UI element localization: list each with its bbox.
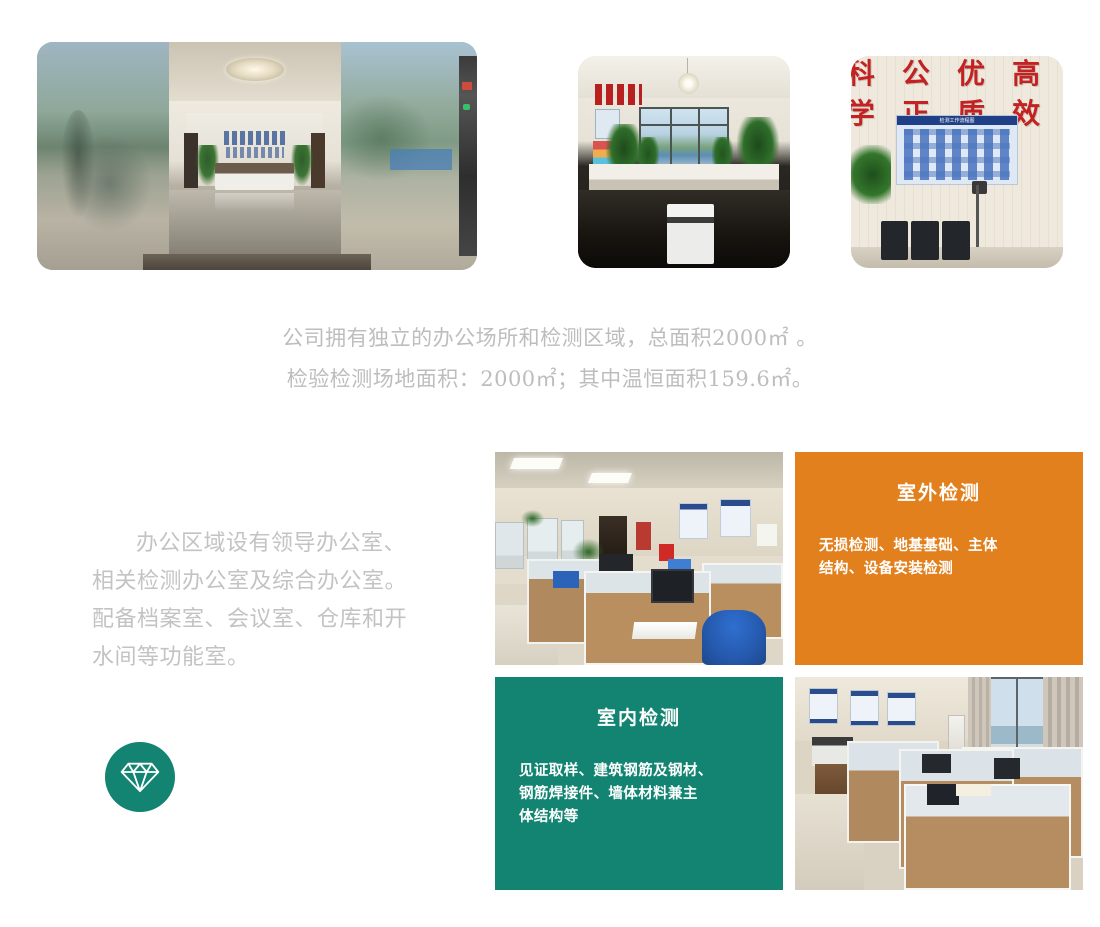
plant-icon xyxy=(851,145,891,204)
office-chair xyxy=(702,610,765,665)
motto-word-1: 科学 xyxy=(851,56,902,132)
outdoor-testing-body: 无损检测、地基基础、主体 结构、设备安装检测 xyxy=(819,535,1059,581)
indoor-testing-body-line-3: 体结构等 xyxy=(519,806,759,829)
door-frame-panel xyxy=(459,56,477,257)
waiting-chairs xyxy=(881,221,970,259)
printer-icon xyxy=(667,204,714,263)
wall-poster xyxy=(720,499,752,537)
wall-motto-text: 科学 公正 优质 高效 xyxy=(851,77,1063,107)
office-desc-line-3: 配备档案室、会议室、仓库和开 xyxy=(92,601,467,639)
plant-icon xyxy=(521,510,544,527)
lobby-entrance-photo xyxy=(37,42,477,270)
indoor-testing-body-line-2: 钢筋焊接件、墙体材料兼主 xyxy=(519,783,759,806)
diamond-badge xyxy=(105,742,175,812)
monitor-icon xyxy=(927,784,959,805)
testing-card-grid: 室外检测 无损检测、地基基础、主体 结构、设备安装检测 室内检测 见证取样、建筑… xyxy=(495,452,1083,892)
wall-slogan xyxy=(595,84,642,105)
meeting-room-photo xyxy=(578,56,790,268)
office-photo-b xyxy=(795,677,1083,890)
wall-poster xyxy=(679,503,708,539)
ceiling-light-icon xyxy=(510,458,563,469)
page-root: 科学 公正 优质 高效 检测工作流程图 公司拥有独立的办公场所和检测区域，总面积… xyxy=(0,0,1100,927)
glass-pane-right xyxy=(341,42,477,270)
caption-line-1: 公司拥有独立的办公场所和检测区域，总面积2000㎡ 。 xyxy=(0,318,1100,359)
ceiling-lamp-icon xyxy=(678,73,699,94)
area-caption: 公司拥有独立的办公场所和检测区域，总面积2000㎡ 。 检验检测场地面积：200… xyxy=(0,318,1100,400)
conference-table xyxy=(589,164,780,192)
office-photo-a xyxy=(495,452,783,665)
chandelier-light xyxy=(226,58,284,81)
motto-word-4: 高效 xyxy=(1012,56,1063,132)
outdoor-testing-title: 室外检测 xyxy=(819,478,1059,505)
office-desc-line-1: 办公区域设有领导办公室、 xyxy=(92,525,467,563)
caption-line-2: 检验检测场地面积：2000㎡；其中温恒面积159.6㎡。 xyxy=(0,359,1100,400)
plant-icon xyxy=(291,145,313,186)
glass-pane-left xyxy=(37,42,169,270)
wall-poster xyxy=(887,692,916,726)
indoor-testing-card[interactable]: 室内检测 见证取样、建筑钢筋及钢材、 钢筋焊接件、墙体材料兼主 体结构等 xyxy=(495,677,783,890)
wall-poster xyxy=(850,690,879,726)
office-desc-line-2: 相关检测办公室及综合办公室。 xyxy=(92,563,467,601)
motto-wall-photo: 科学 公正 优质 高效 检测工作流程图 xyxy=(851,56,1063,268)
workflow-poster: 检测工作流程图 xyxy=(896,115,1019,185)
office-description-text: 办公区域设有领导办公室、 相关检测办公室及综合办公室。 配备档案室、会议室、仓库… xyxy=(92,525,467,677)
monitor-icon xyxy=(922,754,951,773)
office-desc-line-4: 水间等功能室。 xyxy=(92,639,467,677)
monitor-icon xyxy=(651,569,694,603)
wall-poster xyxy=(809,688,838,724)
top-photo-row: 科学 公正 优质 高效 检测工作流程图 xyxy=(0,0,1100,290)
outdoor-testing-card[interactable]: 室外检测 无损检测、地基基础、主体 结构、设备安装检测 xyxy=(795,452,1083,665)
diamond-icon xyxy=(120,760,160,794)
reception-desk xyxy=(215,163,294,190)
outdoor-testing-body-line-2: 结构、设备安装检测 xyxy=(819,558,1059,581)
indoor-testing-body: 见证取样、建筑钢筋及钢材、 钢筋焊接件、墙体材料兼主 体结构等 xyxy=(519,760,759,829)
indoor-testing-body-line-1: 见证取样、建筑钢筋及钢材、 xyxy=(519,760,759,783)
outdoor-testing-body-line-1: 无损检测、地基基础、主体 xyxy=(819,535,1059,558)
indoor-testing-title: 室内检测 xyxy=(519,703,759,730)
cabinet xyxy=(495,522,524,569)
workflow-poster-title: 检测工作流程图 xyxy=(897,116,1018,125)
monitor-icon xyxy=(994,758,1020,779)
lobby-interior xyxy=(169,42,341,270)
ceiling-light-icon xyxy=(588,473,632,483)
